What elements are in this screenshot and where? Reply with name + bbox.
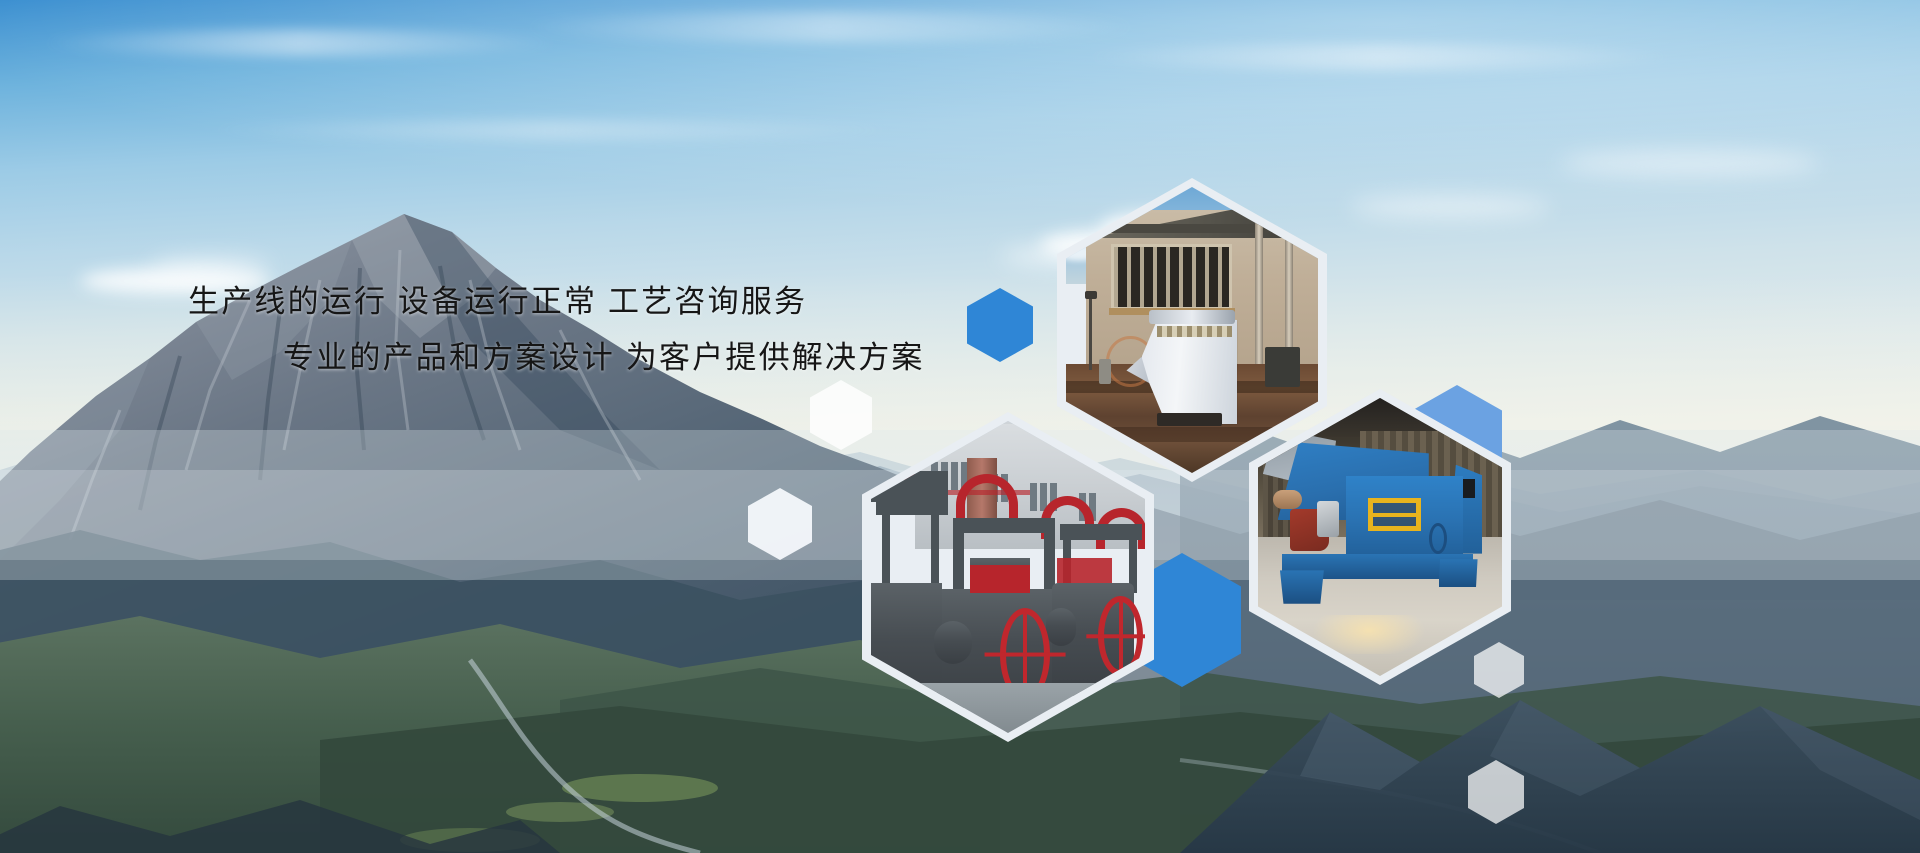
mountain-range bbox=[0, 0, 1920, 853]
photo-ladle-machine-outdoors bbox=[1066, 187, 1318, 473]
photo-blue-shredder-machine bbox=[1258, 398, 1502, 676]
hero-banner: 生产线的运行 设备运行正常 工艺咨询服务 专业的产品和方案设计 为客户提供解决方… bbox=[0, 0, 1920, 853]
photo-hex-vessels-inner bbox=[871, 421, 1145, 733]
headline-line-1: 生产线的运行 设备运行正常 工艺咨询服务 bbox=[188, 276, 807, 321]
headline-line-2: 专业的产品和方案设计 为客户提供解决方案 bbox=[283, 332, 925, 377]
photo-hex-ladle-inner bbox=[1066, 187, 1318, 473]
photo-hex-shredder-inner bbox=[1258, 398, 1502, 676]
photo-gray-vessels-red-wheels bbox=[871, 421, 1145, 733]
